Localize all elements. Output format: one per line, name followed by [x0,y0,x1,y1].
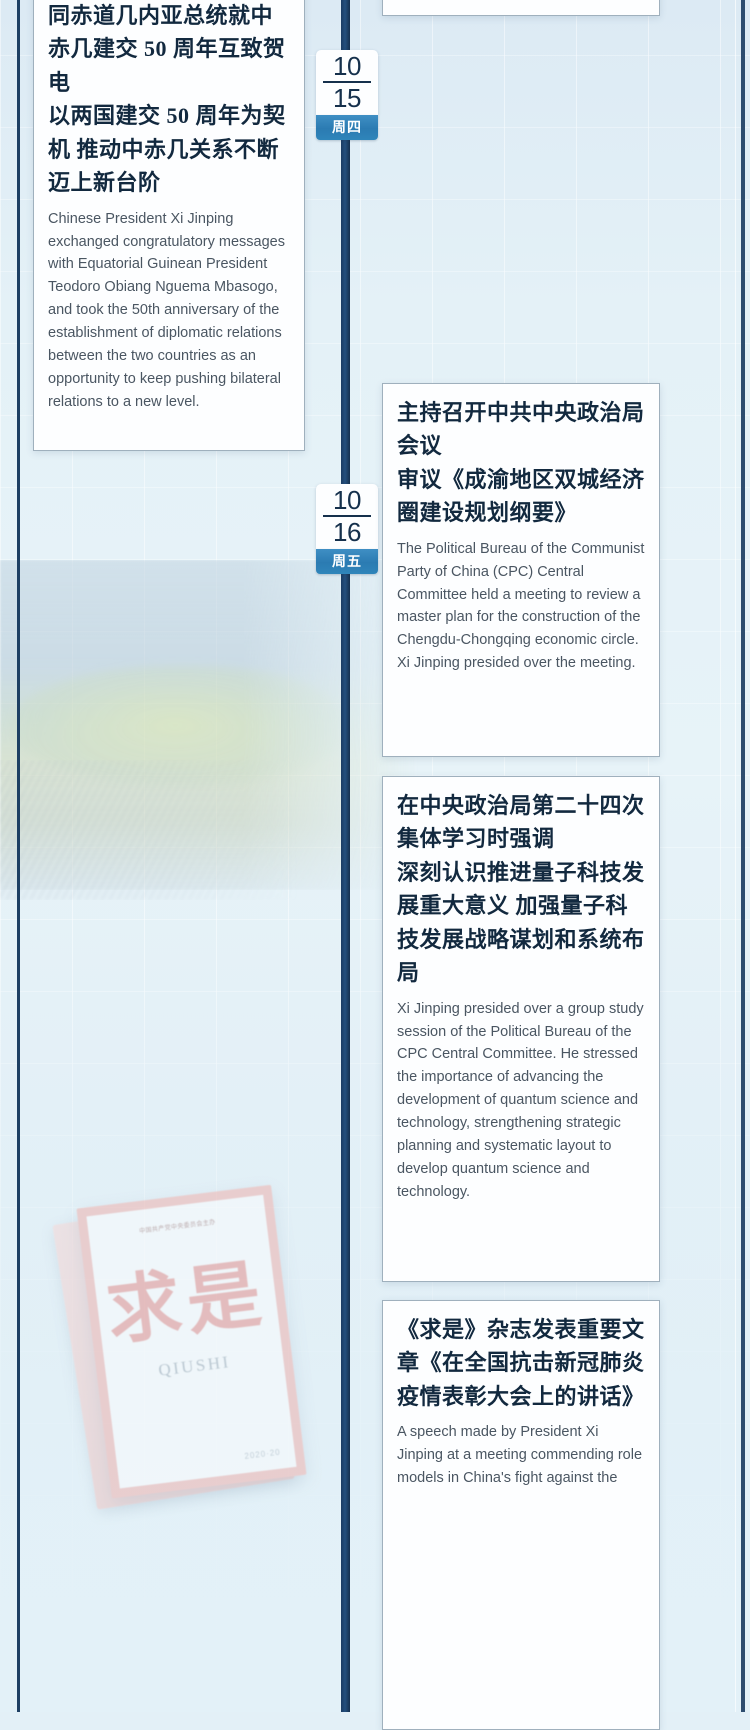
card-body-en: Chinese President Xi Jinping exchanged c… [48,208,290,414]
page-edge-highlight [735,0,736,1712]
timeline-card[interactable]: 同赤道几内亚总统就中赤几建交 50 周年互致贺电 以两国建交 50 周年为契机 … [33,0,305,451]
date-marker-weekday: 周五 [316,549,378,574]
date-marker-day: 15 [316,85,378,112]
magazine-front-cover: 中国共产党中央委员会主办 求是 QIUSHI 2020·20 [76,1185,306,1499]
card-body-en: Xi Jinping presided over a group study s… [397,998,645,1204]
timeline-card[interactable] [382,0,660,16]
date-marker-weekday: 周四 [316,115,378,140]
card-title-cn: 主持召开中共中央政治局会议 审议《成渝地区双城经济圈建设规划纲要》 [397,396,645,530]
magazine-issue-number: 2020·20 [244,1448,281,1461]
date-marker-box: 10 15 [316,50,378,115]
timeline-card[interactable]: 在中央政治局第二十四次集体学习时强调 深刻认识推进量子科技发展重大意义 加强量子… [382,776,660,1282]
timeline-rail-main [341,0,350,1712]
date-marker-day: 16 [316,519,378,546]
timeline-card[interactable]: 主持召开中共中央政治局会议 审议《成渝地区双城经济圈建设规划纲要》 The Po… [382,383,660,757]
card-title-cn: 《求是》杂志发表重要文章《在全国抗击新冠肺炎疫情表彰大会上的讲话》 [397,1313,645,1413]
date-marker-month: 10 [316,53,378,80]
card-title-cn: 同赤道几内亚总统就中赤几建交 50 周年互致贺电 以两国建交 50 周年为契机 … [48,0,290,200]
date-marker-box: 10 16 [316,484,378,549]
timeline-rail-left [17,0,20,1712]
card-body-en: The Political Bureau of the Communist Pa… [397,538,645,675]
timeline-rail-right [741,0,745,1712]
date-marker[interactable]: 10 15 周四 [316,50,378,140]
timeline-card[interactable]: 《求是》杂志发表重要文章《在全国抗击新冠肺炎疫情表彰大会上的讲话》 A spee… [382,1300,660,1730]
magazine-title: 求是 [94,1256,280,1351]
card-body-en: A speech made by President Xi Jinping at… [397,1421,645,1490]
magazine-publisher-line: 中国共产党中央委员会主办 [88,1211,266,1242]
card-title-cn: 在中央政治局第二十四次集体学习时强调 深刻认识推进量子科技发展重大意义 加强量子… [397,789,645,990]
qiushi-magazine-image: 中国共产党中央委员会主办 求是 QIUSHI 2020·20 [68,1185,308,1508]
date-marker-month: 10 [316,487,378,514]
date-marker[interactable]: 10 16 周五 [316,484,378,574]
